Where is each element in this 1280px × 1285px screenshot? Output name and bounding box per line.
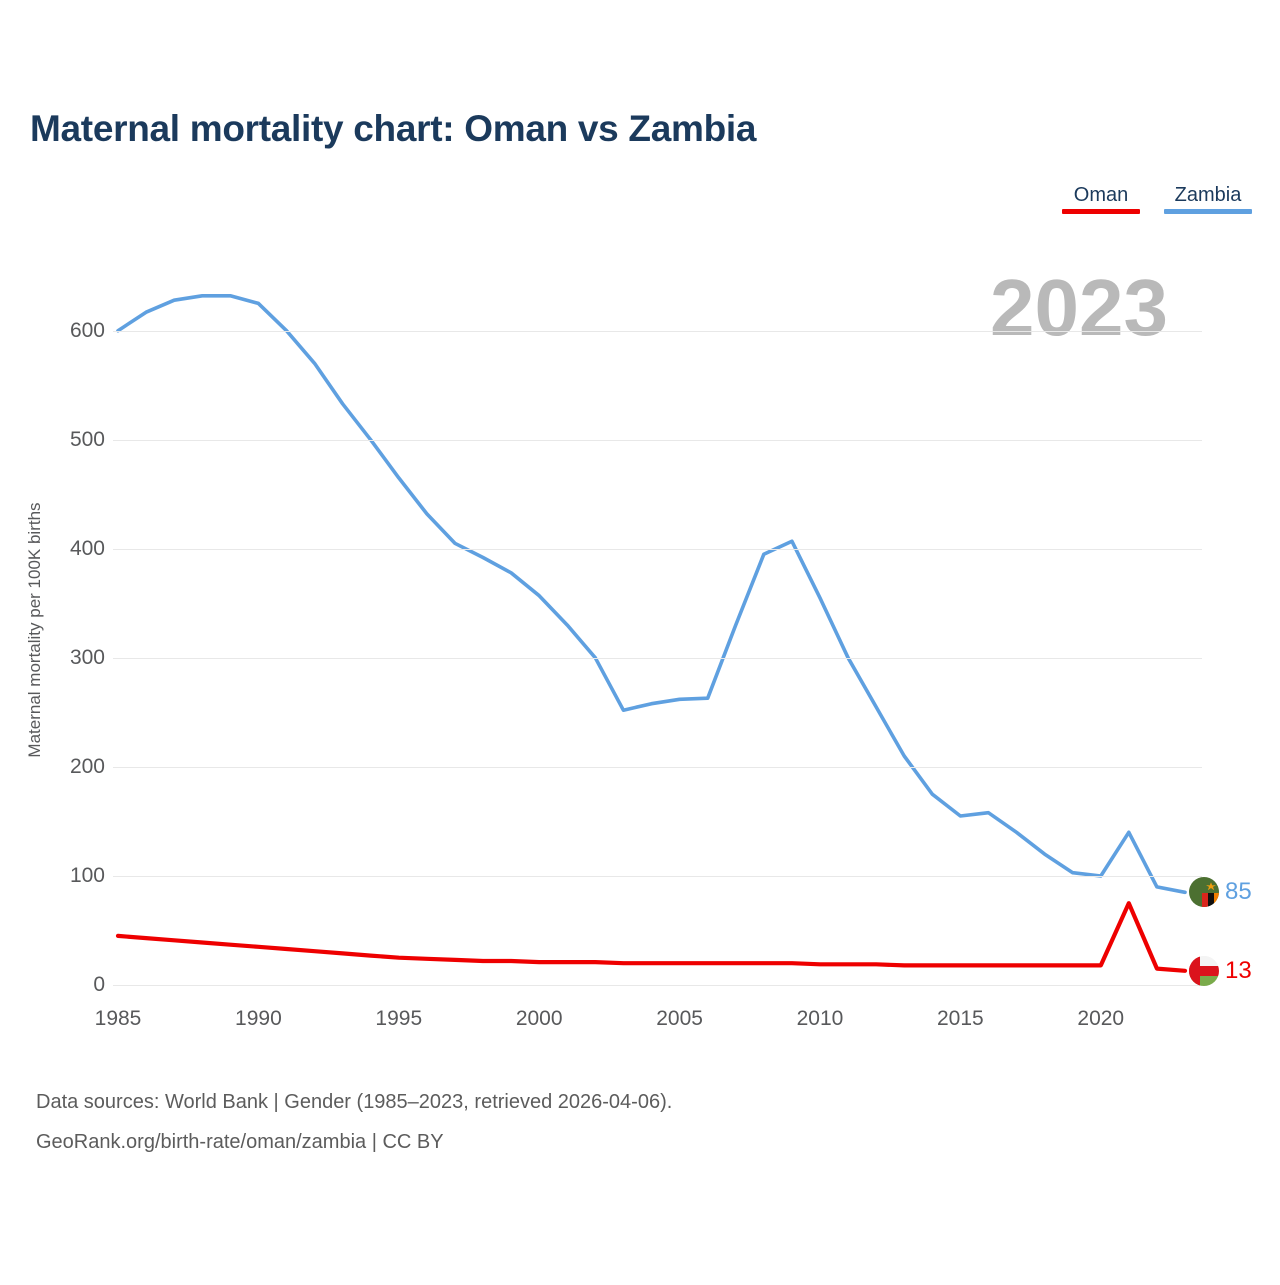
series-line-oman	[118, 903, 1185, 971]
x-tick-label-2015: 2015	[937, 1007, 984, 1031]
watermark-year: 2023	[990, 268, 1168, 348]
y-tick-label-500: 500	[35, 428, 105, 452]
y-tick-label-100: 100	[35, 864, 105, 888]
y-tick-label-400: 400	[35, 537, 105, 561]
y-axis-title: Maternal mortality per 100K births	[25, 310, 45, 950]
gridline-y-300	[113, 658, 1202, 659]
x-tick-label-1990: 1990	[235, 1007, 282, 1031]
endcap-oman: 13	[1189, 956, 1252, 986]
x-tick-label-1995: 1995	[375, 1007, 422, 1031]
y-tick-label-200: 200	[35, 755, 105, 779]
endcap-value-zambia: 85	[1225, 880, 1252, 904]
gridline-y-600	[113, 331, 1202, 332]
footer-line-sources: Data sources: World Bank | Gender (1985–…	[36, 1082, 672, 1122]
oman-flag-icon	[1189, 956, 1219, 986]
y-tick-label-600: 600	[35, 319, 105, 343]
gridline-y-200	[113, 767, 1202, 768]
legend-label-oman: Oman	[1074, 184, 1128, 206]
legend-label-zambia: Zambia	[1175, 184, 1242, 206]
gridline-y-500	[113, 440, 1202, 441]
legend-swatch-zambia	[1164, 209, 1252, 214]
x-tick-label-2020: 2020	[1077, 1007, 1124, 1031]
gridline-y-0	[113, 985, 1202, 986]
legend-item-zambia[interactable]: Zambia	[1164, 184, 1252, 214]
x-tick-label-2010: 2010	[797, 1007, 844, 1031]
page-title: Maternal mortality chart: Oman vs Zambia	[30, 108, 756, 150]
zambia-flag-icon	[1189, 877, 1219, 907]
x-tick-label-2005: 2005	[656, 1007, 703, 1031]
y-tick-label-0: 0	[35, 973, 105, 997]
x-tick-label-2000: 2000	[516, 1007, 563, 1031]
footer-line-attribution: GeoRank.org/birth-rate/oman/zambia | CC …	[36, 1122, 672, 1162]
endcap-value-oman: 13	[1225, 959, 1252, 983]
endcap-zambia: 85	[1189, 877, 1252, 907]
chart-legend: Oman Zambia	[1062, 184, 1252, 214]
legend-item-oman[interactable]: Oman	[1062, 184, 1140, 214]
gridline-y-100	[113, 876, 1202, 877]
legend-swatch-oman	[1062, 209, 1140, 214]
footer: Data sources: World Bank | Gender (1985–…	[36, 1082, 672, 1162]
y-tick-label-300: 300	[35, 646, 105, 670]
series-line-zambia	[118, 296, 1185, 893]
gridline-y-400	[113, 549, 1202, 550]
x-tick-label-1985: 1985	[95, 1007, 142, 1031]
